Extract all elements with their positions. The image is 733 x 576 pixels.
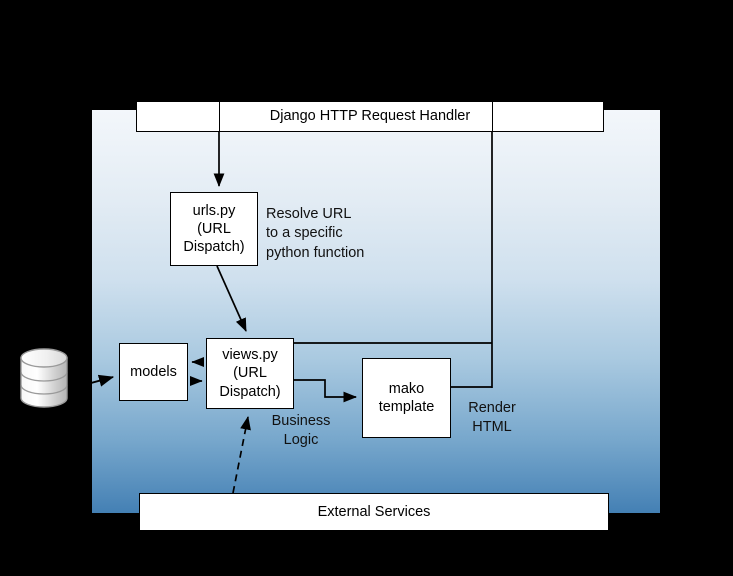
external-services-box[interactable]: External Services: [139, 493, 609, 531]
database-cylinder-icon: [18, 348, 70, 408]
annotation-business-logic: Business Logic: [268, 412, 334, 451]
django-http-request-handler-box[interactable]: Django HTTP Request Handler: [136, 101, 604, 132]
header-divider-right: [492, 101, 493, 132]
views-py-label: views.py (URL Dispatch): [219, 346, 280, 400]
external-services-label: External Services: [318, 503, 431, 521]
django-stack-panel: [92, 110, 660, 513]
urls-py-box[interactable]: urls.py (URL Dispatch): [170, 192, 258, 266]
annotation-resolve-url: Resolve URL to a specific python functio…: [266, 205, 364, 263]
mako-template-label: mako template: [379, 380, 435, 416]
urls-py-label: urls.py (URL Dispatch): [183, 202, 244, 256]
models-label: models: [130, 363, 177, 381]
views-py-box[interactable]: views.py (URL Dispatch): [206, 338, 294, 409]
mako-template-box[interactable]: mako template: [362, 358, 451, 438]
annotation-render-html: Render HTML: [459, 399, 525, 438]
header-box-label: Django HTTP Request Handler: [270, 107, 470, 125]
models-box[interactable]: models: [119, 343, 188, 401]
header-divider-left: [219, 101, 220, 132]
diagram-canvas: Django HTTP Request Handler urls.py (URL…: [0, 0, 733, 576]
